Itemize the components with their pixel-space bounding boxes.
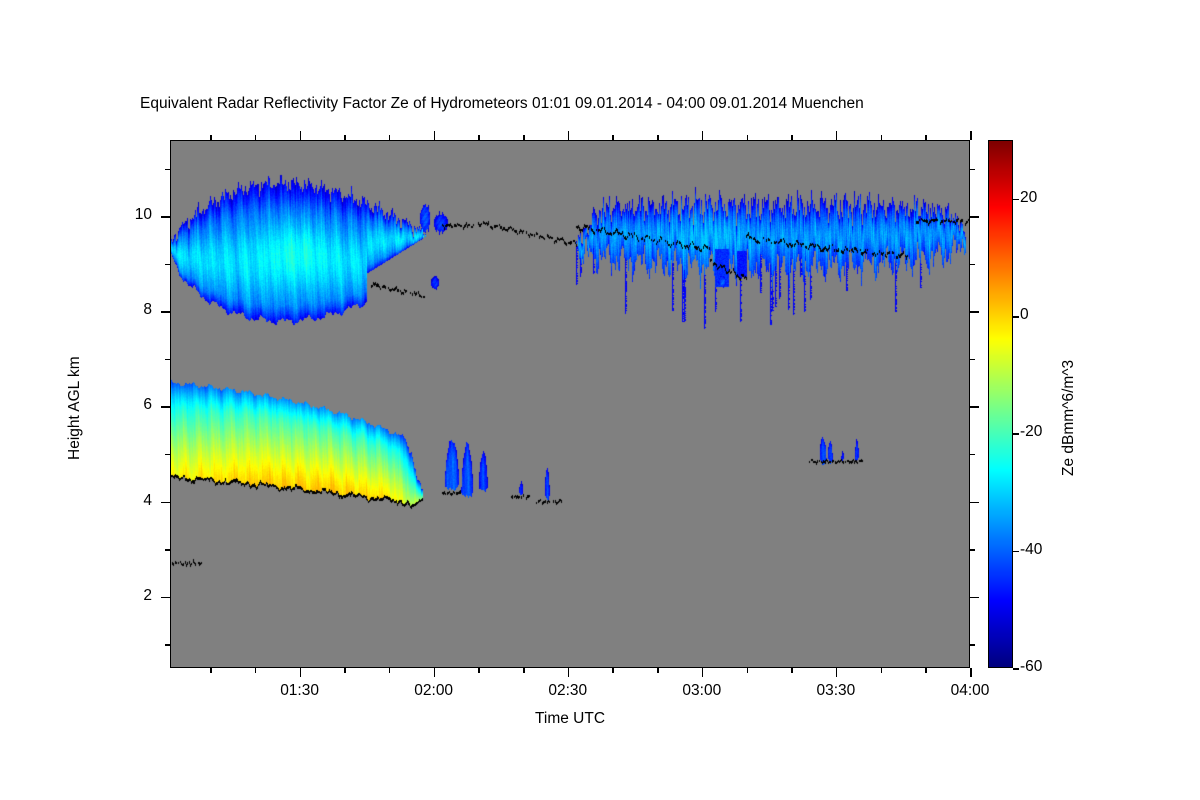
x-tick-label-04:00: 04:00	[930, 682, 1010, 700]
x-tick-130	[478, 668, 480, 673]
x-tick-top-170	[657, 135, 659, 140]
x-tick-top-180	[702, 131, 704, 140]
x-tick-100	[344, 668, 346, 673]
x-tick-top-150	[568, 131, 570, 140]
reflectivity-heatmap	[170, 140, 970, 668]
x-tick-label-03:00: 03:00	[662, 682, 742, 700]
y-tick-label-4: 4	[106, 492, 152, 510]
x-tick-150	[568, 668, 570, 677]
x-tick-label-02:00: 02:00	[394, 682, 474, 700]
x-tick-190	[747, 668, 749, 673]
x-tick-top-70	[210, 135, 212, 140]
x-tick-label-03:30: 03:30	[796, 682, 876, 700]
x-tick-160	[612, 668, 614, 673]
y-tick-3	[165, 549, 170, 551]
y-tick-8	[161, 311, 170, 313]
x-tick-120	[434, 668, 436, 677]
y-tick-right-4	[970, 502, 979, 504]
colorbar-label--20: -20	[1020, 423, 1042, 441]
y-tick-right-5	[970, 454, 975, 456]
y-tick-label-8: 8	[106, 301, 152, 319]
colorbar-label-0: 0	[1020, 306, 1029, 324]
radar-reflectivity-figure: Equivalent Radar Reflectivity Factor Ze …	[0, 0, 1200, 800]
x-tick-170	[657, 668, 659, 673]
y-tick-right-6	[970, 406, 979, 408]
colorbar-gradient	[989, 141, 1012, 667]
y-tick-1	[165, 644, 170, 646]
x-tick-top-110	[389, 135, 391, 140]
y-axis-title: Height AGL km	[66, 356, 84, 460]
x-tick-80	[255, 668, 257, 673]
x-tick-top-230	[925, 135, 927, 140]
x-tick-180	[702, 668, 704, 677]
chart-title: Equivalent Radar Reflectivity Factor Ze …	[140, 95, 1060, 113]
y-tick-right-2	[970, 597, 979, 599]
y-tick-right-9	[970, 264, 975, 266]
x-tick-top-200	[791, 135, 793, 140]
x-tick-top-240	[970, 131, 972, 140]
x-tick-70	[210, 668, 212, 673]
x-tick-230	[925, 668, 927, 673]
x-tick-top-130	[478, 135, 480, 140]
colorbar-tick--40	[1013, 551, 1019, 553]
y-tick-9	[165, 264, 170, 266]
y-tick-6	[161, 406, 170, 408]
x-tick-top-160	[612, 135, 614, 140]
y-tick-right-7	[970, 359, 975, 361]
y-tick-4	[161, 502, 170, 504]
y-tick-label-6: 6	[106, 396, 152, 414]
y-tick-right-8	[970, 311, 979, 313]
y-tick-label-2: 2	[106, 587, 152, 605]
x-tick-top-100	[344, 135, 346, 140]
y-tick-right-3	[970, 549, 975, 551]
x-tick-top-220	[881, 135, 883, 140]
y-tick-11	[165, 169, 170, 171]
colorbar-tick--20	[1013, 433, 1019, 435]
x-tick-210	[836, 668, 838, 677]
colorbar-label--60: -60	[1020, 658, 1042, 676]
x-tick-top-90	[300, 131, 302, 140]
x-tick-top-80	[255, 135, 257, 140]
x-tick-top-120	[434, 131, 436, 140]
y-tick-right-11	[970, 169, 975, 171]
y-tick-label-10: 10	[106, 206, 152, 224]
x-axis-title: Time UTC	[170, 710, 970, 728]
x-tick-240	[970, 668, 972, 677]
y-tick-5	[165, 454, 170, 456]
colorbar-title: Ze dBmm^6/m^3	[1060, 360, 1078, 476]
x-tick-200	[791, 668, 793, 673]
x-tick-220	[881, 668, 883, 673]
colorbar-tick--60	[1013, 668, 1019, 670]
x-tick-top-210	[836, 131, 838, 140]
colorbar-tick-0	[1013, 316, 1019, 318]
colorbar-tick-20	[1013, 199, 1019, 201]
x-tick-top-140	[523, 135, 525, 140]
y-tick-10	[161, 216, 170, 218]
colorbar-label-20: 20	[1020, 189, 1037, 207]
y-tick-2	[161, 597, 170, 599]
colorbar-label--40: -40	[1020, 541, 1042, 559]
plot-area	[170, 140, 970, 668]
y-tick-right-1	[970, 644, 975, 646]
x-tick-90	[300, 668, 302, 677]
x-tick-140	[523, 668, 525, 673]
x-tick-110	[389, 668, 391, 673]
y-tick-7	[165, 359, 170, 361]
colorbar	[988, 140, 1013, 668]
x-tick-label-01:30: 01:30	[260, 682, 340, 700]
x-tick-label-02:30: 02:30	[528, 682, 608, 700]
y-tick-right-10	[970, 216, 979, 218]
x-tick-top-190	[747, 135, 749, 140]
